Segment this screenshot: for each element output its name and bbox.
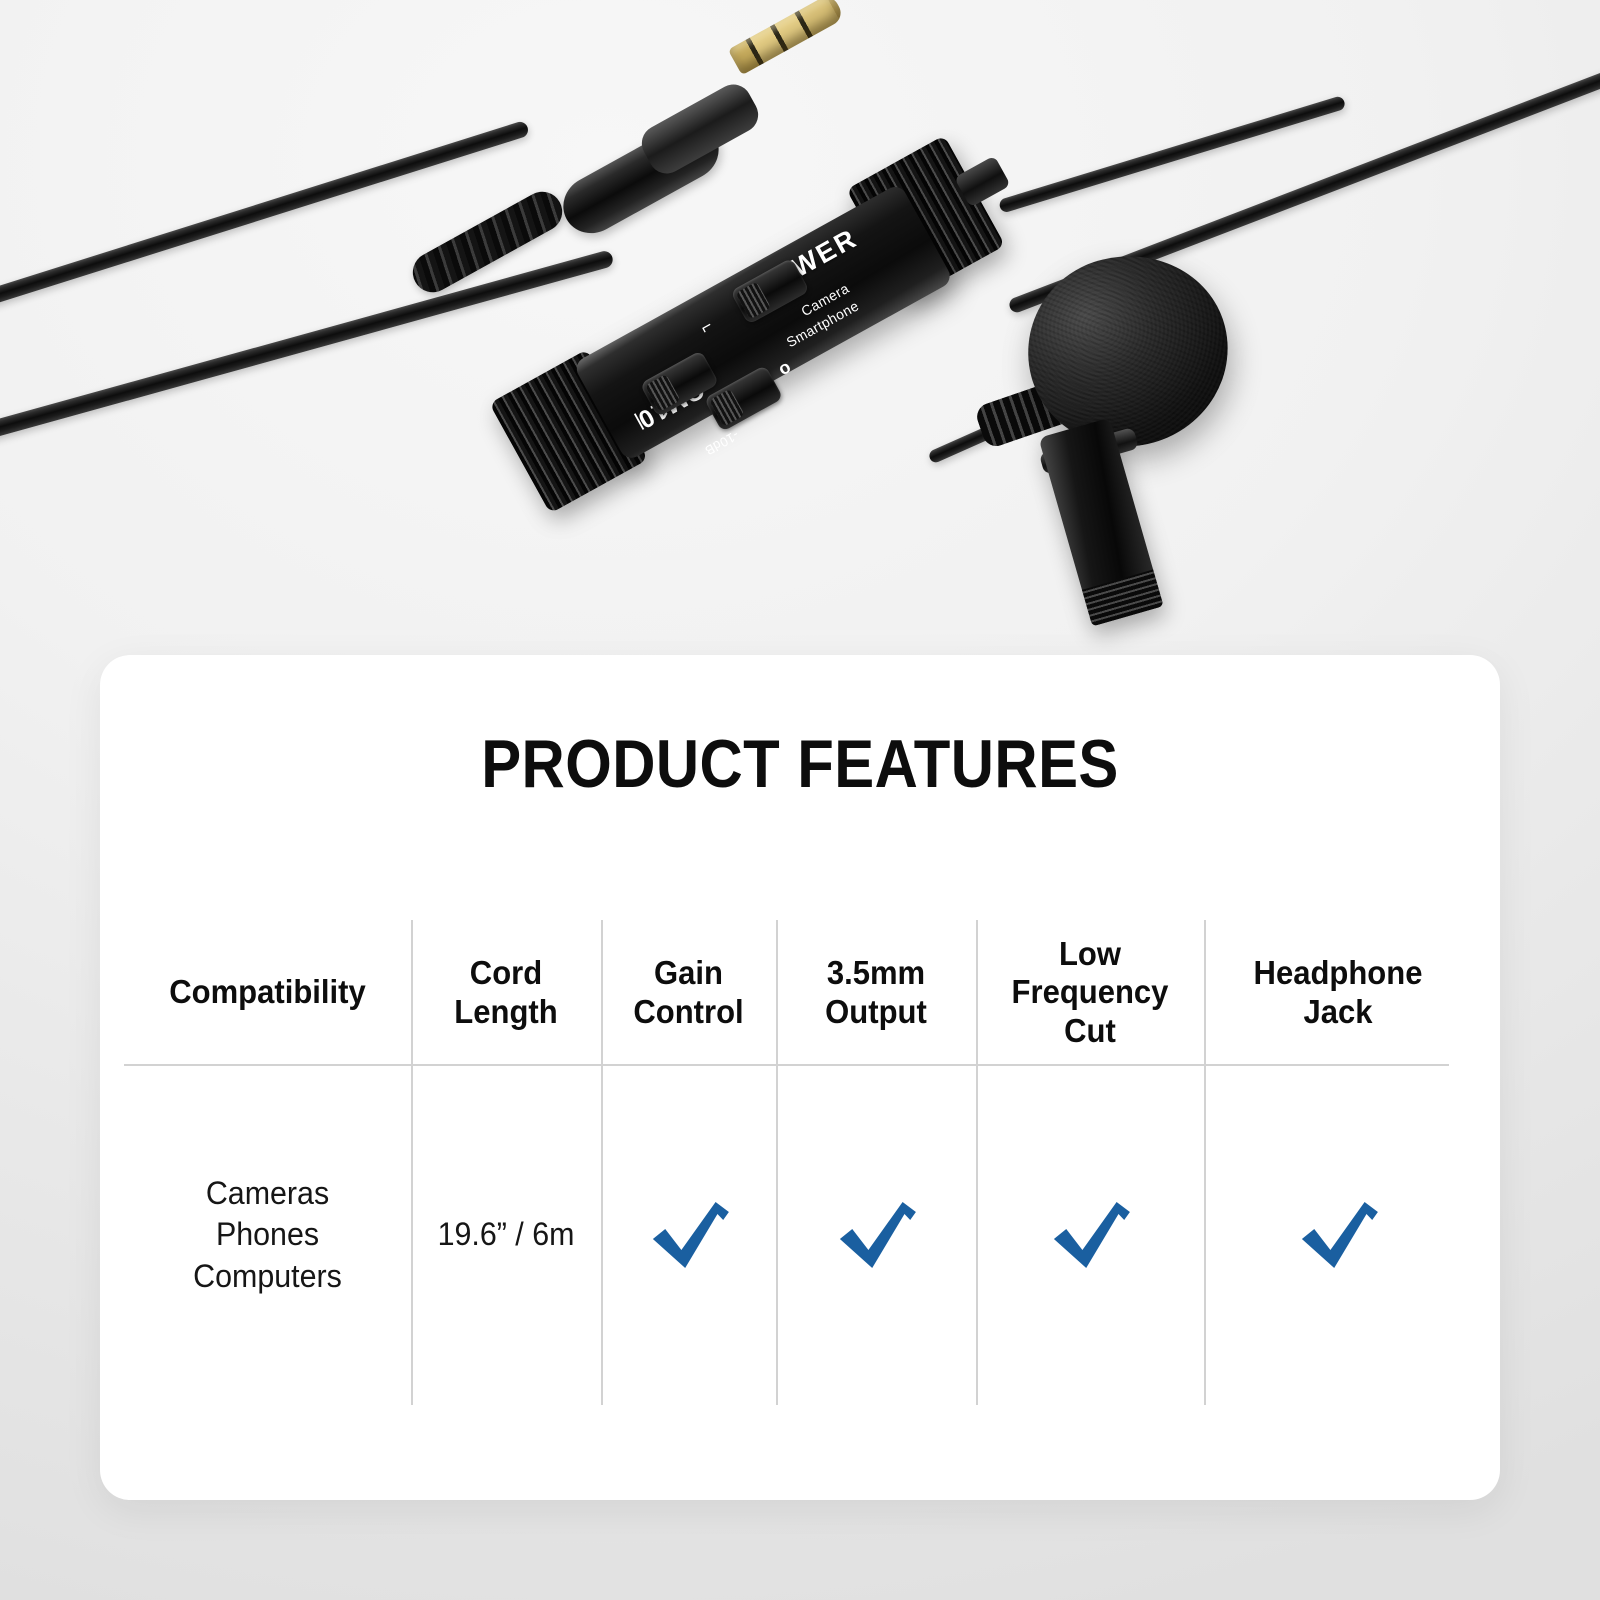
- table-column-gain-control: GainControl: [601, 920, 776, 1405]
- product-features-card: PRODUCT FEATURES Compatibility CamerasPh…: [100, 655, 1500, 1500]
- table-cell: [605, 1065, 771, 1405]
- column-header: CordLength: [417, 920, 596, 1065]
- column-header: GainControl: [606, 920, 771, 1065]
- page-title: PRODUCT FEATURES: [184, 725, 1416, 803]
- headphone-jack-plug-icon: [728, 0, 845, 75]
- table-column-compatibility: Compatibility CamerasPhonesComputers: [124, 920, 411, 1405]
- control-module: NEEWER CM10 Camera Smartphone -10dB — ⌐ …: [451, 45, 1066, 586]
- table-cell: 19.6” / 6m: [416, 1065, 597, 1405]
- checkmark-icon: [1292, 1198, 1383, 1272]
- checkmark-icon: [830, 1198, 921, 1272]
- table-cell: [1211, 1065, 1466, 1405]
- column-header: 3.5mmOutput: [782, 920, 970, 1065]
- table-column-35mm-output: 3.5mmOutput: [776, 920, 976, 1405]
- column-header: LowFrequencyCut: [983, 920, 1197, 1065]
- cable-upper-left: [0, 120, 530, 346]
- attenuation-switch-toggle: [709, 389, 745, 427]
- table-column-cord-length: CordLength 19.6” / 6m: [411, 920, 601, 1405]
- checkmark-icon: [1044, 1198, 1135, 1272]
- column-header: HeadphoneJack: [1212, 920, 1464, 1065]
- microphone-clip: [1038, 418, 1163, 627]
- features-table: Compatibility CamerasPhonesComputers Cor…: [124, 920, 1472, 1405]
- table-cell: [982, 1065, 1199, 1405]
- product-feature-page: NEEWER CM10 Camera Smartphone -10dB — ⌐ …: [0, 0, 1600, 1600]
- product-photo: NEEWER CM10 Camera Smartphone -10dB — ⌐ …: [0, 0, 1600, 700]
- table-column-headphone-jack: HeadphoneJack: [1204, 920, 1472, 1405]
- table-cell: [781, 1065, 971, 1405]
- table-cell: CamerasPhonesComputers: [131, 1065, 404, 1405]
- checkmark-icon: [643, 1198, 734, 1272]
- table-column-low-frequency-cut: LowFrequencyCut: [976, 920, 1204, 1405]
- column-header: Compatibility: [133, 920, 403, 1065]
- switch-label-attenuation: -10dB: [702, 428, 741, 459]
